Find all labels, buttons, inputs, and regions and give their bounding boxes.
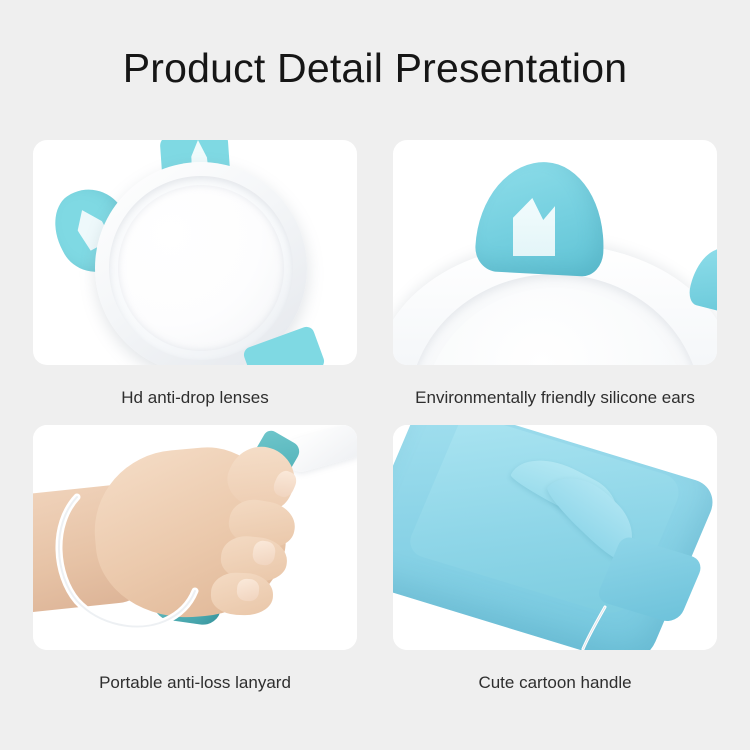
feature-cell-silicone-ears: Environmentally friendly silicone ears — [393, 140, 717, 409]
feature-cell-cartoon-handle: Cute cartoon handle — [393, 425, 717, 694]
fingernail-ring — [236, 578, 259, 601]
feature-cell-anti-loss-lanyard: Portable anti-loss lanyard — [33, 425, 357, 694]
hand-holding-handle-illustration — [33, 425, 357, 650]
feature-photo-anti-loss-lanyard — [33, 425, 357, 650]
product-detail-page: Product Detail Presentation H — [0, 0, 750, 750]
cartoon-handle-illustration — [393, 425, 717, 650]
feature-cell-hd-anti-drop-lenses: Hd anti-drop lenses — [33, 140, 357, 409]
feature-photo-silicone-ears — [393, 140, 717, 365]
magnifier-glass — [423, 288, 687, 365]
feature-caption-cartoon-handle: Cute cartoon handle — [393, 672, 717, 694]
feature-photo-cartoon-handle — [393, 425, 717, 650]
lens-rim — [85, 152, 318, 365]
page-title: Product Detail Presentation — [0, 44, 750, 92]
feature-photo-hd-anti-drop-lenses — [33, 140, 357, 365]
feature-caption-hd-anti-drop-lenses: Hd anti-drop lenses — [33, 387, 357, 409]
lens-rim-inner — [100, 167, 302, 365]
magnifier-lens-illustration — [33, 140, 357, 365]
feature-caption-anti-loss-lanyard: Portable anti-loss lanyard — [33, 672, 357, 694]
feature-caption-silicone-ears: Environmentally friendly silicone ears — [393, 387, 717, 409]
silicone-ear-illustration — [393, 140, 717, 365]
lens-glass — [110, 177, 292, 359]
feature-grid: Hd anti-drop lenses Environmentally frie… — [33, 140, 717, 715]
magnifier-rim-arc-inner — [409, 274, 701, 365]
